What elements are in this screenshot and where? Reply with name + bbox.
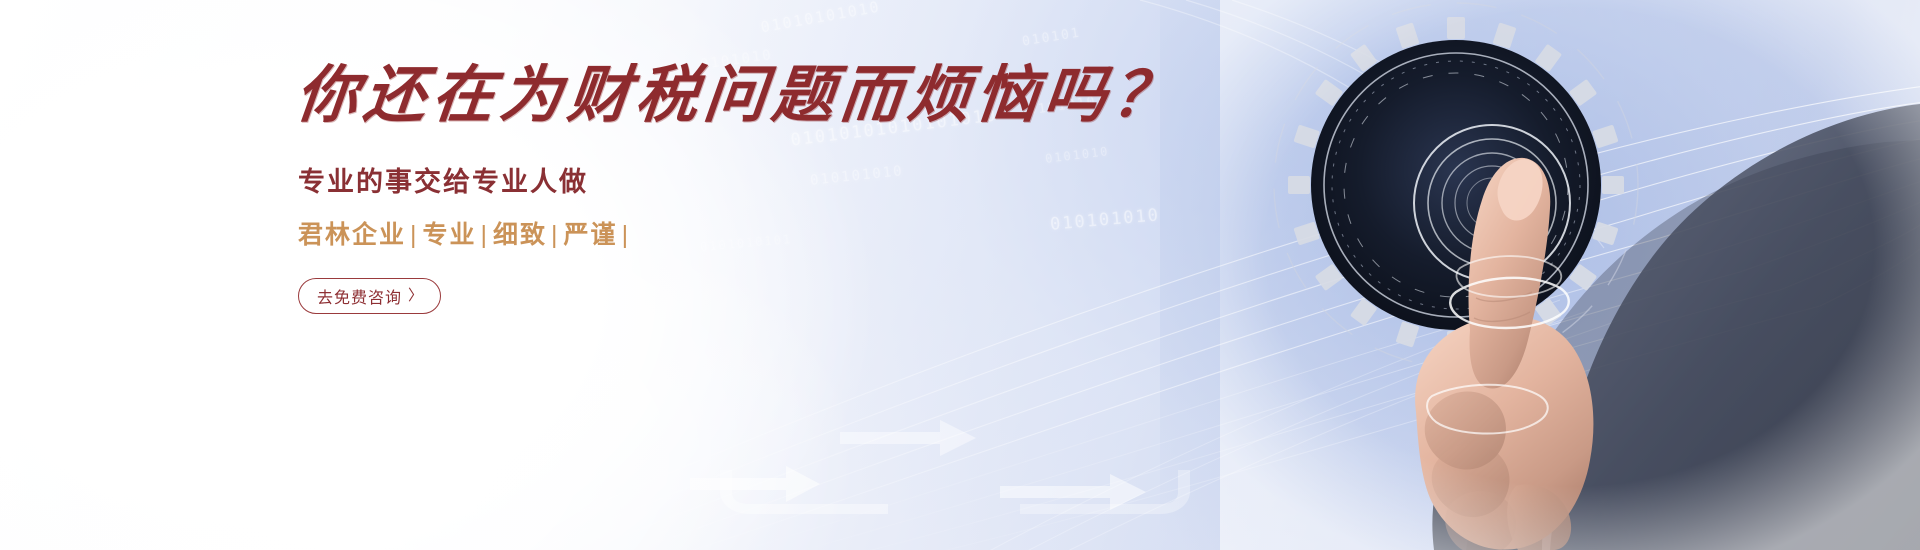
free-consultation-button[interactable]: 去免费咨询 〉 (298, 278, 441, 314)
chevron-right-icon: 〉 (408, 288, 424, 303)
tagline-item-1: 专业 (423, 221, 477, 249)
tagline-separator: | (406, 221, 423, 249)
hand-touch-illustration (1220, 0, 1920, 550)
banner-tagline: 君林企业|专业|细致|严谨| (298, 220, 1056, 250)
tagline-separator: | (618, 221, 635, 249)
banner-content: 你还在为财税问题而烦恼吗？ 专业的事交给专业人做 君林企业|专业|细致|严谨| … (296, 64, 1056, 314)
tagline-separator: | (547, 221, 564, 249)
tagline-brand: 君林企业 (298, 221, 406, 249)
free-consultation-label: 去免费咨询 (317, 284, 402, 308)
page-title: 你还在为财税问题而烦恼吗？ (293, 64, 1060, 130)
tagline-item-2: 细致 (493, 221, 547, 249)
tagline-separator: | (477, 221, 494, 249)
tagline-item-3: 严谨 (564, 221, 618, 249)
banner-subtitle: 专业的事交给专业人做 (298, 166, 1056, 198)
hero-banner: 01010101010 010101 0101010 01010101 0101… (0, 0, 1920, 550)
cta-row: 去免费咨询 〉 (298, 278, 1056, 314)
